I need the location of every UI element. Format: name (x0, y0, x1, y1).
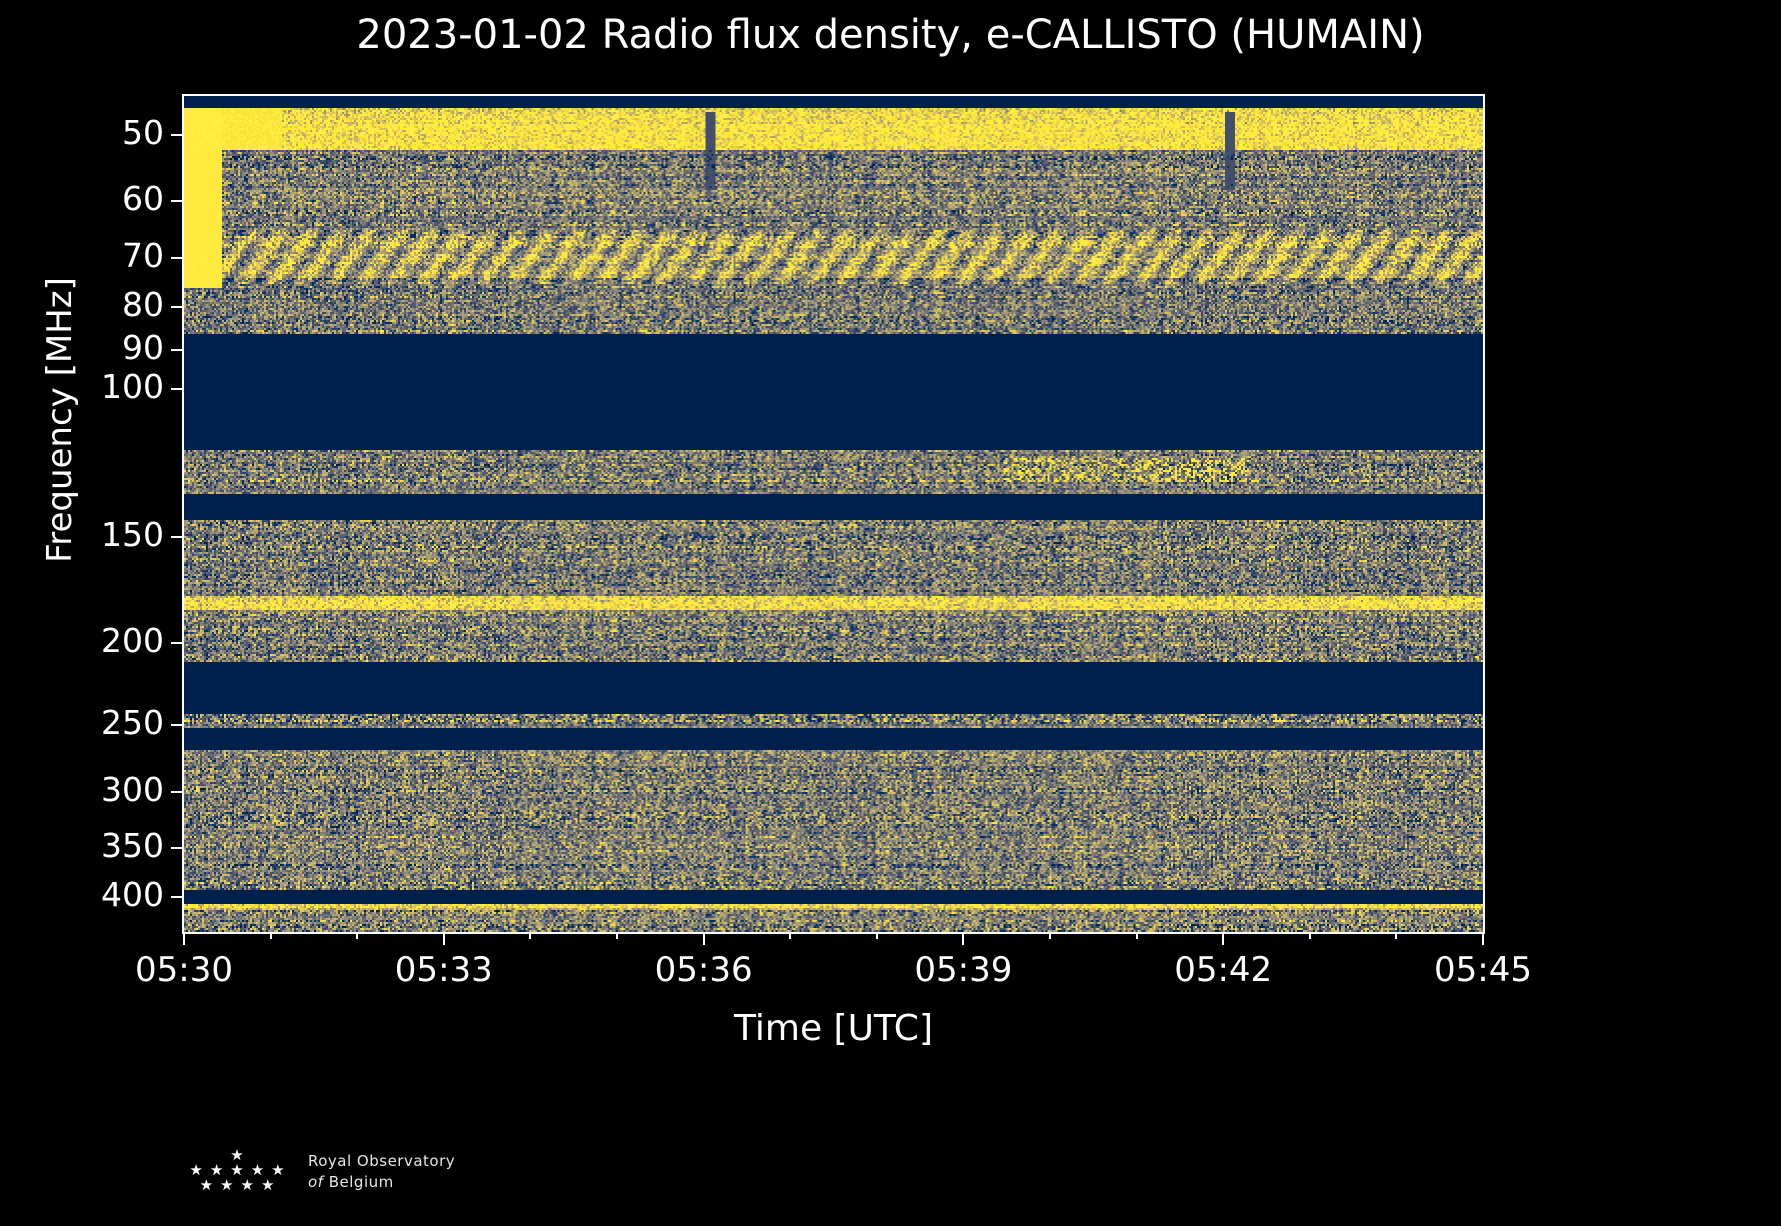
y-tick-label-90: 90 (34, 328, 164, 367)
x-tick-334 (529, 932, 531, 939)
y-tick-150 (171, 536, 184, 538)
y-tick-label-200: 200 (34, 621, 164, 660)
y-tick-80 (171, 306, 184, 308)
y-tick-label-70: 70 (34, 236, 164, 275)
y-tick-label-60: 60 (34, 179, 164, 218)
x-tick-332 (356, 932, 358, 939)
x-tick-label-05-36: 05:36 (655, 950, 753, 990)
royal-observatory-logo: ★★★★★★★★★★ Royal Observatory of Belgium (178, 1148, 598, 1210)
y-tick-label-100: 100 (34, 367, 164, 406)
y-tick-label-300: 300 (34, 770, 164, 809)
y-tick-90 (171, 349, 184, 351)
x-tick-345 (1482, 932, 1484, 945)
y-tick-200 (171, 642, 184, 644)
logo-belgium: Belgium (329, 1173, 394, 1191)
x-tick-340 (1049, 932, 1051, 939)
logo-line-2: of Belgium (308, 1173, 455, 1191)
y-axis-title: Frequency [MHz] (40, 220, 80, 620)
logo-of: of (308, 1173, 323, 1191)
x-tick-label-05-42: 05:42 (1174, 950, 1272, 990)
logo-line-1: Royal Observatory (308, 1152, 455, 1170)
eu-stars-icon: ★★★★★★★★★★ (178, 1148, 296, 1206)
x-tick-338 (876, 932, 878, 939)
x-tick-label-05-45: 05:45 (1434, 950, 1532, 990)
spectrogram-image (184, 96, 1483, 932)
x-axis-title: Time [UTC] (184, 1008, 1483, 1049)
x-tick-331 (270, 932, 272, 939)
x-tick-337 (789, 932, 791, 939)
x-tick-330 (183, 932, 185, 945)
y-tick-70 (171, 257, 184, 259)
x-tick-336 (703, 932, 705, 945)
y-tick-300 (171, 791, 184, 793)
y-tick-label-150: 150 (34, 515, 164, 554)
figure-canvas: 2023-01-02 Radio flux density, e-CALLIST… (0, 0, 1781, 1226)
x-tick-343 (1309, 932, 1311, 939)
y-tick-label-80: 80 (34, 285, 164, 324)
x-tick-341 (1136, 932, 1138, 939)
star-icon: ★ (220, 1178, 233, 1193)
star-icon: ★ (200, 1178, 213, 1193)
x-tick-339 (962, 932, 964, 945)
y-tick-350 (171, 847, 184, 849)
star-icon: ★ (261, 1178, 274, 1193)
y-tick-250 (171, 724, 184, 726)
x-tick-335 (616, 932, 618, 939)
y-tick-label-50: 50 (34, 113, 164, 152)
logo-text: Royal Observatory of Belgium (308, 1152, 455, 1191)
x-tick-label-05-33: 05:33 (395, 950, 493, 990)
y-tick-100 (171, 388, 184, 390)
x-tick-label-05-39: 05:39 (914, 950, 1012, 990)
x-tick-342 (1222, 932, 1224, 945)
y-tick-label-400: 400 (34, 875, 164, 914)
x-tick-344 (1395, 932, 1397, 939)
star-icon: ★ (241, 1178, 254, 1193)
y-tick-50 (171, 134, 184, 136)
x-tick-333 (443, 932, 445, 945)
y-tick-400 (171, 896, 184, 898)
y-tick-60 (171, 200, 184, 202)
y-tick-label-350: 350 (34, 826, 164, 865)
spectrogram-plot-area (184, 96, 1483, 932)
y-tick-label-250: 250 (34, 703, 164, 742)
x-tick-label-05-30: 05:30 (135, 950, 233, 990)
page-title: 2023-01-02 Radio flux density, e-CALLIST… (0, 12, 1781, 58)
